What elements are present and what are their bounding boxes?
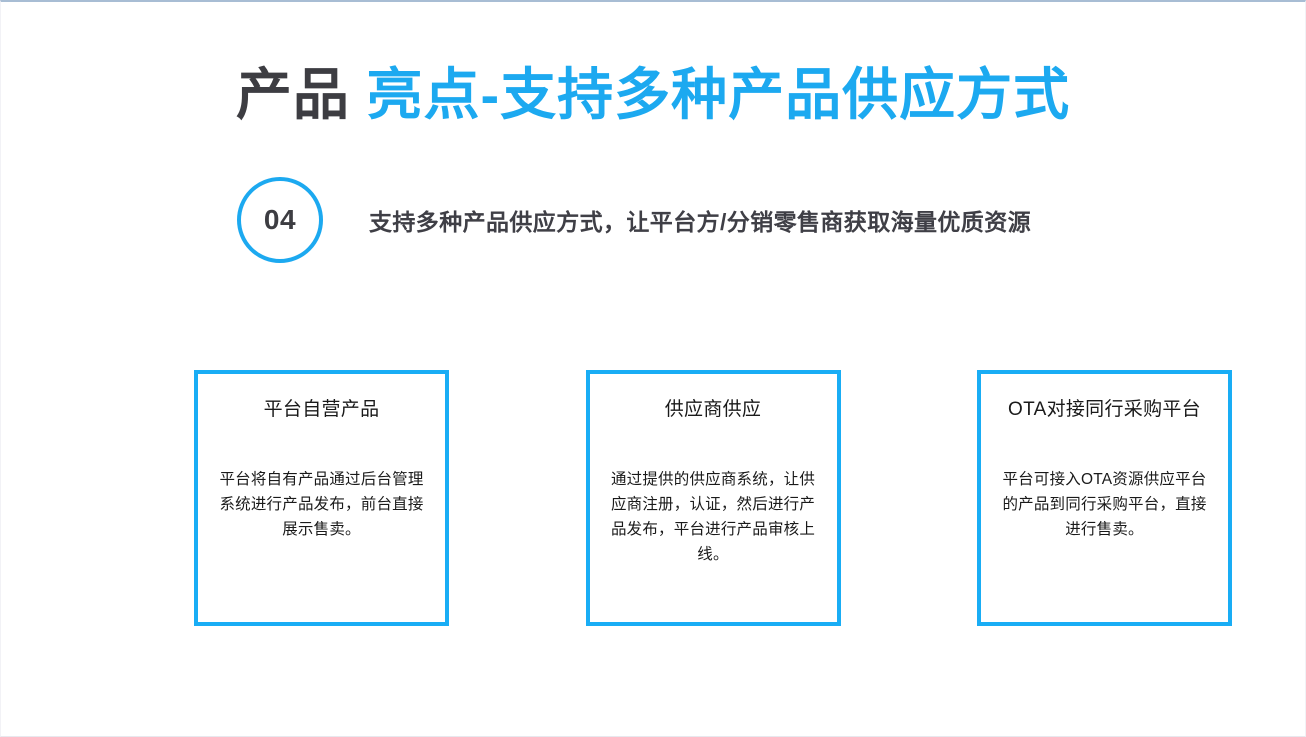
supply-mode-card-3: OTA对接同行采购平台 平台可接入OTA资源供应平台的产品到同行采购平台，直接进… [977, 370, 1232, 626]
step-number-label: 04 [264, 204, 296, 236]
page-title-accent-part: 亮点-支持多种产品供应方式 [366, 63, 1070, 126]
supply-mode-card-2: 供应商供应 通过提供的供应商系统，让供应商注册，认证，然后进行产品发布，平台进行… [586, 370, 841, 626]
card-body: 平台可接入OTA资源供应平台的产品到同行采购平台，直接进行售卖。 [993, 467, 1216, 542]
step-subtitle: 支持多种产品供应方式，让平台方/分销零售商获取海量优质资源 [369, 203, 1031, 237]
slide-canvas: 产品 亮点-支持多种产品供应方式 04 支持多种产品供应方式，让平台方/分销零售… [0, 0, 1306, 737]
card-title: 平台自营产品 [210, 398, 433, 423]
card-title: OTA对接同行采购平台 [993, 398, 1216, 423]
step-header: 04 支持多种产品供应方式，让平台方/分销零售商获取海量优质资源 [237, 176, 1247, 264]
page-title: 产品 亮点-支持多种产品供应方式 [1, 64, 1305, 126]
card-body: 平台将自有产品通过后台管理系统进行产品发布，前台直接展示售卖。 [210, 467, 433, 542]
supply-mode-card-1: 平台自营产品 平台将自有产品通过后台管理系统进行产品发布，前台直接展示售卖。 [194, 370, 449, 626]
card-title: 供应商供应 [602, 398, 825, 423]
card-body: 通过提供的供应商系统，让供应商注册，认证，然后进行产品发布，平台进行产品审核上线… [602, 467, 825, 567]
step-number-badge: 04 [237, 177, 323, 263]
supply-mode-card-list: 平台自营产品 平台将自有产品通过后台管理系统进行产品发布，前台直接展示售卖。 供… [194, 370, 1232, 626]
page-title-dark-part: 产品 [236, 63, 367, 126]
